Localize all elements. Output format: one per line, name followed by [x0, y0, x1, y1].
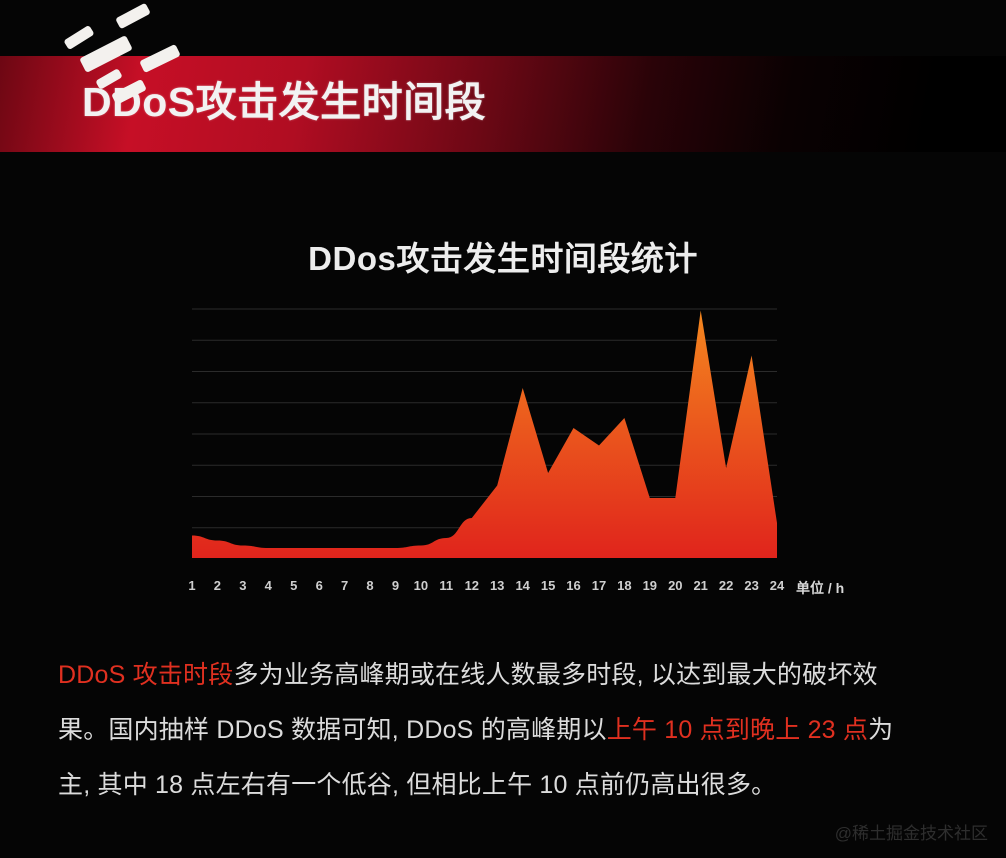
x-axis-tick-2: 2: [214, 578, 221, 593]
x-axis-tick-20: 20: [668, 578, 682, 593]
body-line-2: 果。国内抽样 DDoS 数据可知, DDoS 的高峰期以上午 10 点到晚上 2…: [58, 703, 964, 758]
x-axis-tick-22: 22: [719, 578, 733, 593]
x-axis-tick-11: 11: [439, 578, 453, 593]
x-axis-tick-14: 14: [515, 578, 529, 593]
x-axis-tick-4: 4: [265, 578, 272, 593]
x-axis-tick-6: 6: [316, 578, 323, 593]
chart-x-axis: 123456789101112131415161718192021222324: [192, 578, 777, 598]
x-axis-tick-15: 15: [541, 578, 555, 593]
x-axis-tick-16: 16: [566, 578, 580, 593]
body-line-1: DDoS 攻击时段多为业务高峰期或在线人数最多时段, 以达到最大的破坏效: [58, 648, 964, 703]
body-line-1-rest: 多为业务高峰期或在线人数最多时段, 以达到最大的破坏效: [233, 661, 877, 689]
chart-title: DDos攻击发生时间段统计: [0, 232, 1006, 280]
watermark: @稀土掘金技术社区: [835, 819, 988, 844]
body-line-2-start: 果。国内抽样 DDoS 数据可知, DDoS 的高峰期以: [58, 716, 607, 744]
x-axis-tick-7: 7: [341, 578, 348, 593]
x-axis-tick-17: 17: [592, 578, 606, 593]
x-axis-tick-3: 3: [239, 578, 246, 593]
x-axis-tick-21: 21: [693, 578, 707, 593]
x-axis-tick-1: 1: [188, 578, 195, 593]
body-paragraph: DDoS 攻击时段多为业务高峰期或在线人数最多时段, 以达到最大的破坏效 果。国…: [58, 648, 964, 813]
x-axis-tick-12: 12: [465, 578, 479, 593]
x-axis-tick-18: 18: [617, 578, 631, 593]
body-highlight-attack-window: DDoS 攻击时段: [58, 661, 233, 689]
body-line-3: 主, 其中 18 点左右有一个低谷, 但相比上午 10 点前仍高出很多。: [58, 758, 964, 813]
chart-unit-label: 单位 / h: [796, 578, 844, 598]
x-axis-tick-9: 9: [392, 578, 399, 593]
chart-plot-area: [192, 308, 777, 558]
body-line-2-end: 为: [868, 716, 893, 744]
chart-container: DDos攻击发生时间段统计 12345678910111213141516171…: [0, 200, 1006, 620]
x-axis-tick-19: 19: [643, 578, 657, 593]
page-title: DDoS攻击发生时间段: [82, 68, 486, 128]
x-axis-tick-10: 10: [414, 578, 428, 593]
x-axis-tick-5: 5: [290, 578, 297, 593]
area-chart-svg: [192, 308, 777, 558]
x-axis-tick-23: 23: [744, 578, 758, 593]
x-axis-tick-8: 8: [366, 578, 373, 593]
x-axis-tick-13: 13: [490, 578, 504, 593]
body-highlight-peak-hours: 上午 10 点到晚上 23 点: [607, 716, 868, 744]
x-axis-tick-24: 24: [770, 578, 784, 593]
